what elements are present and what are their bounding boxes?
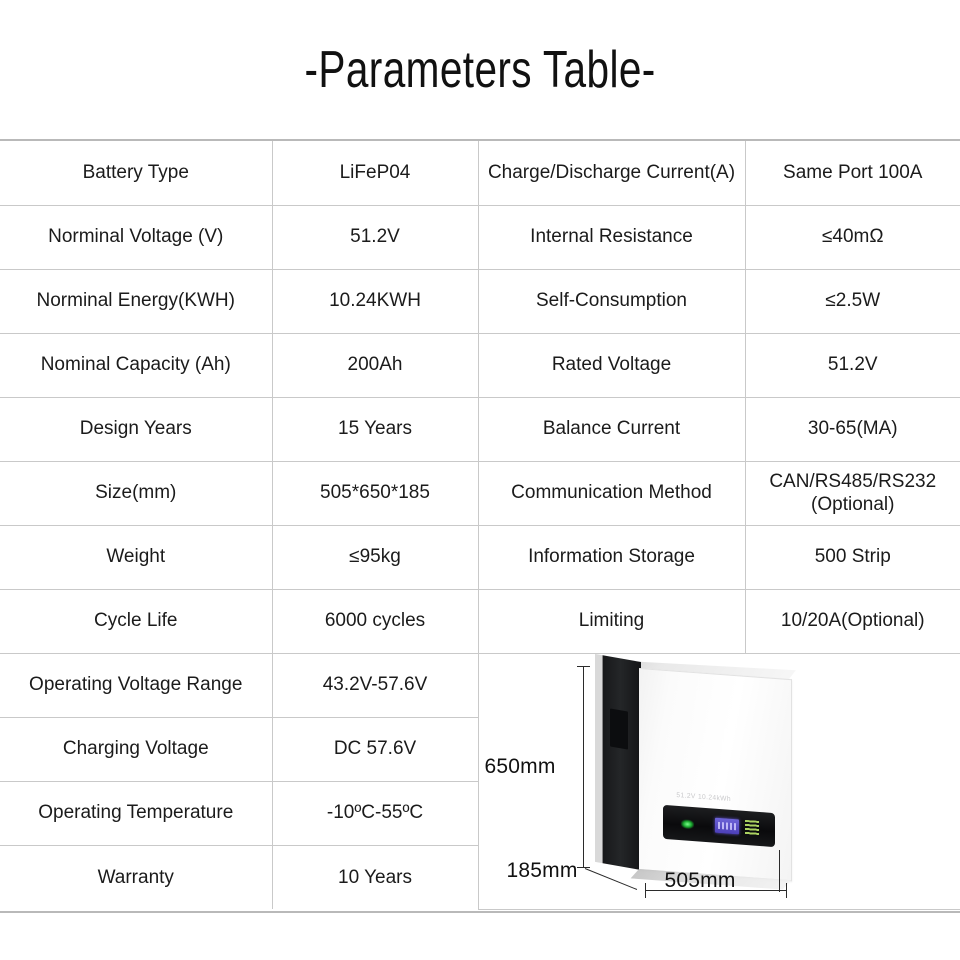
param-value-limiting: 10/20A(Optional)	[745, 589, 960, 653]
param-label-warranty: Warranty	[0, 845, 272, 909]
param-label-rated-voltage: Rated Voltage	[478, 333, 745, 397]
param-value-charge-discharge-current: Same Port 100A	[745, 141, 960, 205]
table-row: Nominal Capacity (Ah) 200Ah Rated Voltag…	[0, 333, 960, 397]
param-label-charge-discharge-current: Charge/Discharge Current(A)	[478, 141, 745, 205]
param-label-nominal-capacity: Nominal Capacity (Ah)	[0, 333, 272, 397]
param-value-cycle-life: 6000 cycles	[272, 589, 478, 653]
param-label-self-consumption: Self-Consumption	[478, 269, 745, 333]
param-label-norminal-voltage: Norminal Voltage (V)	[0, 205, 272, 269]
param-value-operating-temperature: -10ºC-55ºC	[272, 781, 478, 845]
table-row: Size(mm) 505*650*185 Communication Metho…	[0, 461, 960, 525]
param-value-self-consumption: ≤2.5W	[745, 269, 960, 333]
param-value-weight: ≤95kg	[272, 525, 478, 589]
param-label-battery-type: Battery Type	[0, 141, 272, 205]
height-dimension-line	[583, 666, 584, 868]
param-label-communication-method: Communication Method	[478, 461, 745, 525]
dimension-label-width: 505mm	[665, 868, 736, 894]
param-label-balance-current: Balance Current	[478, 397, 745, 461]
param-label-weight: Weight	[0, 525, 272, 589]
param-value-design-years: 15 Years	[272, 397, 478, 461]
page-title-container: -Parameters Table-	[0, 0, 960, 139]
param-label-information-storage: Information Storage	[478, 525, 745, 589]
table-row: Design Years 15 Years Balance Current 30…	[0, 397, 960, 461]
param-label-operating-temperature: Operating Temperature	[0, 781, 272, 845]
param-label-operating-voltage-range: Operating Voltage Range	[0, 653, 272, 717]
param-label-internal-resistance: Internal Resistance	[478, 205, 745, 269]
table-row: Weight ≤95kg Information Storage 500 Str…	[0, 525, 960, 589]
parameters-table-page: -Parameters Table- Battery Type LiFeP04 …	[0, 0, 960, 960]
param-label-cycle-life: Cycle Life	[0, 589, 272, 653]
param-label-limiting: Limiting	[478, 589, 745, 653]
table-row: Norminal Energy(KWH) 10.24KWH Self-Consu…	[0, 269, 960, 333]
battery-level-bars-icon	[745, 819, 759, 835]
table-row: Operating Voltage Range 43.2V-57.6V 51.2…	[0, 653, 960, 717]
param-label-size: Size(mm)	[0, 461, 272, 525]
param-value-size: 505*650*185	[272, 461, 478, 525]
product-front-face	[639, 668, 792, 881]
product-side-face	[595, 653, 641, 869]
lcd-display-icon	[715, 817, 739, 834]
product-image-cell: 51.2V 10.24kWh 650mm 185mm	[478, 653, 960, 909]
param-value-communication-method: CAN/RS485/RS232 (Optional)	[745, 461, 960, 525]
page-title: -Parameters Table-	[304, 44, 655, 96]
param-value-rated-voltage: 51.2V	[745, 333, 960, 397]
param-label-charging-voltage: Charging Voltage	[0, 717, 272, 781]
param-label-norminal-energy: Norminal Energy(KWH)	[0, 269, 272, 333]
param-value-operating-voltage-range: 43.2V-57.6V	[272, 653, 478, 717]
param-value-balance-current: 30-65(MA)	[745, 397, 960, 461]
dimension-label-depth: 185mm	[507, 858, 578, 884]
product-illustration: 51.2V 10.24kWh 650mm 185mm	[479, 654, 960, 910]
param-value-warranty: 10 Years	[272, 845, 478, 909]
param-value-information-storage: 500 Strip	[745, 525, 960, 589]
table-row: Cycle Life 6000 cycles Limiting 10/20A(O…	[0, 589, 960, 653]
depth-dimension-line	[584, 868, 636, 890]
parameters-table: Battery Type LiFeP04 Charge/Discharge Cu…	[0, 141, 960, 910]
dimension-label-height: 650mm	[485, 754, 556, 780]
width-dimension-tick	[779, 850, 780, 892]
product-vent-slot	[610, 708, 628, 749]
param-label-design-years: Design Years	[0, 397, 272, 461]
parameters-table-wrapper: Battery Type LiFeP04 Charge/Discharge Cu…	[0, 139, 960, 913]
power-indicator-icon	[681, 819, 694, 829]
param-value-internal-resistance: ≤40mΩ	[745, 205, 960, 269]
param-value-battery-type: LiFeP04	[272, 141, 478, 205]
param-value-norminal-voltage: 51.2V	[272, 205, 478, 269]
param-value-nominal-capacity: 200Ah	[272, 333, 478, 397]
param-value-norminal-energy: 10.24KWH	[272, 269, 478, 333]
table-row: Norminal Voltage (V) 51.2V Internal Resi…	[0, 205, 960, 269]
table-row: Battery Type LiFeP04 Charge/Discharge Cu…	[0, 141, 960, 205]
param-value-charging-voltage: DC 57.6V	[272, 717, 478, 781]
